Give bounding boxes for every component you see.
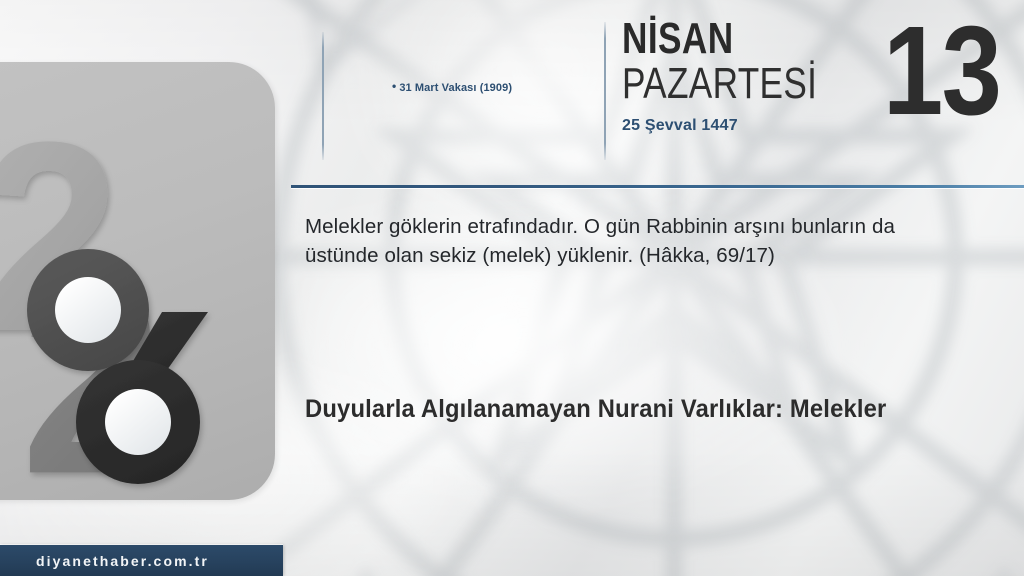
vertical-divider-right (604, 22, 606, 160)
month-name: NİSAN (622, 18, 830, 60)
day-number: 13 (883, 8, 1000, 134)
historical-event-note: •31 Mart Vakası (1909) (392, 80, 512, 94)
weekday-name: PAZARTESİ (622, 62, 830, 107)
topic-title: Duyularla Algılanamayan Nurani Varlıklar… (305, 388, 894, 431)
historical-event-text: 31 Mart Vakası (1909) (399, 82, 512, 94)
website-bar[interactable]: diyanethaber.com.tr (0, 545, 283, 576)
bullet-icon: • (392, 80, 396, 92)
website-url-text: diyanethaber.com.tr (36, 553, 209, 569)
hijri-date: 25 Şevval 1447 (622, 117, 882, 135)
calendar-page: 2 2 •31 Mart Vakası (1909) NİSAN (0, 0, 1024, 576)
year-logo-2026: 2 2 (0, 62, 275, 500)
quran-verse-text: Melekler göklerin etrafındadır. O gün Ra… (305, 212, 917, 270)
vertical-divider-left (322, 32, 324, 160)
date-block: NİSAN PAZARTESİ 25 Şevval 1447 (622, 18, 882, 135)
horizontal-divider (291, 185, 1024, 188)
